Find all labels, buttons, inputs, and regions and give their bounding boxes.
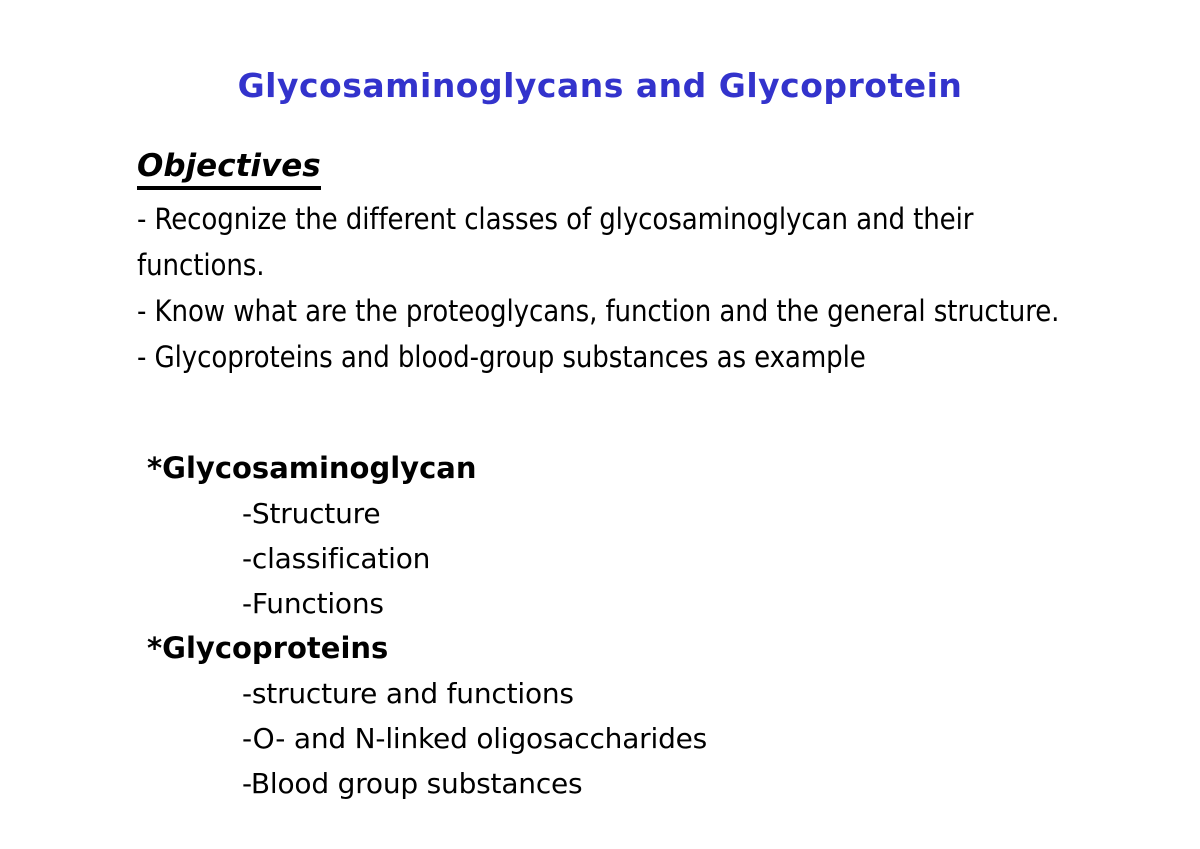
section-item: -classification	[242, 536, 1200, 581]
section-item: -Functions	[242, 581, 1200, 626]
objectives-list: - Recognize the different classes of gly…	[137, 196, 1067, 380]
objectives-line: - Know what are the proteoglycans, funct…	[137, 288, 1067, 334]
outline-section-glycosaminoglycan: *Glycosaminoglycan -Structure -classific…	[0, 446, 1200, 626]
section-item: -structure and functions	[242, 671, 1200, 716]
objectives-line: - Recognize the different classes of gly…	[137, 196, 1067, 288]
section-item: -O- and N-linked oligosaccharides	[242, 716, 1200, 761]
outline-section-glycoproteins: *Glycoproteins -structure and functions …	[0, 626, 1200, 806]
section-heading: *Glycoproteins	[147, 626, 1200, 671]
slide-canvas: Glycosaminoglycans and Glycoprotein Obje…	[0, 0, 1200, 849]
objectives-line: - Glycoproteins and blood-group substanc…	[137, 334, 1067, 380]
outline-list: *Glycosaminoglycan -Structure -classific…	[0, 446, 1200, 806]
page-title: Glycosaminoglycans and Glycoprotein	[0, 66, 1200, 106]
section-heading: *Glycosaminoglycan	[147, 446, 1200, 491]
objectives-heading: Objectives	[137, 148, 321, 190]
section-item: -Blood group substances	[242, 761, 1200, 806]
section-item: -Structure	[242, 491, 1200, 536]
